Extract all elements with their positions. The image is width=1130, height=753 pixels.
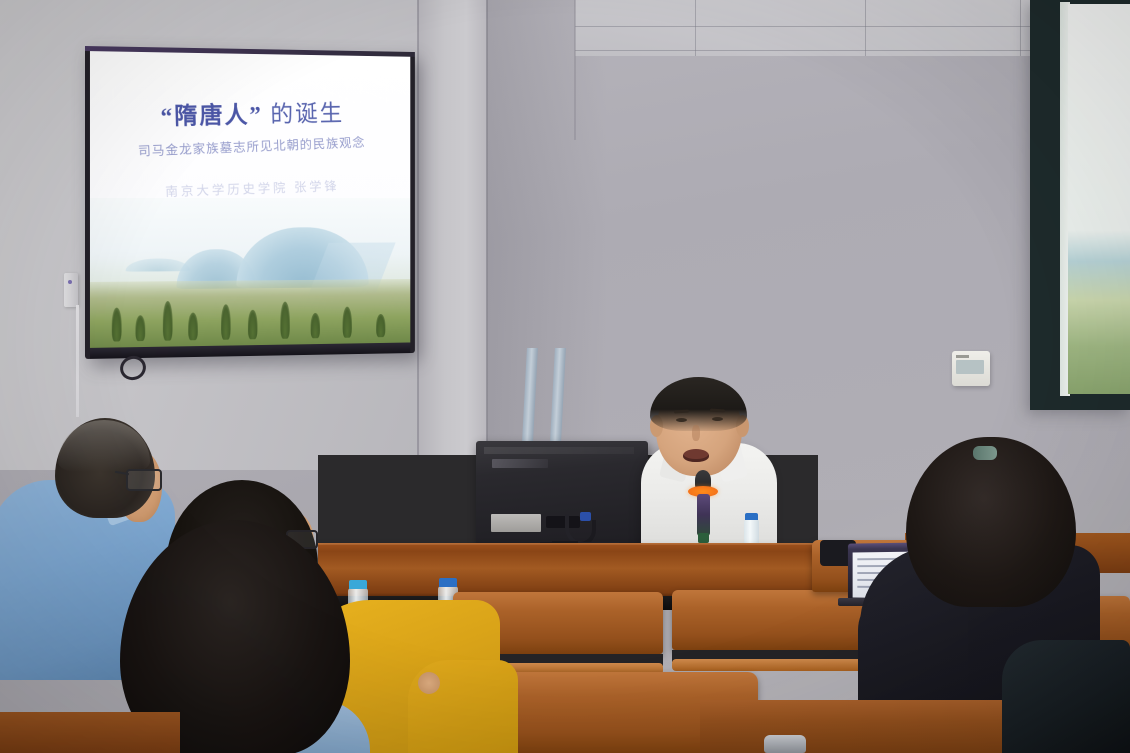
- chair-lower-rail: [672, 659, 882, 671]
- eyeglasses-icon: [126, 469, 162, 491]
- audience-woman-laptop-arm: [858, 590, 968, 710]
- audience-woman-laptop-hair: [906, 437, 1076, 607]
- speaker-eye-left: [676, 418, 687, 422]
- ac-panel-display: [956, 360, 984, 374]
- monitor-brand-logo: [492, 459, 548, 468]
- wall-corner-column: [416, 0, 488, 470]
- wall-corner-edge-right: [486, 0, 488, 495]
- ac-panel-strip: [956, 355, 969, 358]
- water-bottle-cap: [349, 580, 367, 589]
- monitor-gloss-highlight: [484, 447, 634, 454]
- water-bottle-cap: [439, 578, 457, 587]
- slide-title-rest: 的诞生: [262, 101, 344, 128]
- sensor-indicator-led: [68, 280, 72, 284]
- speaker-nose: [692, 425, 700, 441]
- audience-table-left: [0, 712, 180, 753]
- speaker-eye-right: [712, 417, 723, 421]
- hair-clip: [973, 446, 997, 460]
- wall-corner-edge-far: [574, 0, 576, 140]
- jacket-over-chair: [1002, 640, 1130, 753]
- wall-sensor-box[interactable]: [64, 273, 78, 307]
- wall-cable: [76, 305, 79, 417]
- microphone-gooseneck: [697, 494, 710, 536]
- wall-shadow-gradient: [487, 0, 607, 470]
- window-view: [1068, 4, 1130, 394]
- wall-corner-edge-left: [417, 0, 419, 470]
- speaker-mouth: [683, 449, 709, 462]
- slide-photograph: 古代墓塚封土堆景观: [90, 198, 410, 348]
- slide-title: “隋唐人” 的诞生: [90, 93, 410, 133]
- vga-connector: [580, 512, 591, 521]
- water-bottle-cap: [745, 513, 758, 520]
- audience-woman-yellow-hand: [418, 672, 440, 694]
- lecture-hall-photograph: air-conditioner-wall-control “隋唐人” 的诞生 司…: [0, 0, 1130, 753]
- presentation-display[interactable]: “隋唐人” 的诞生 司马金龙家族墓志所见北朝的民族观念 南京大学历史学院 张学锋: [85, 46, 415, 359]
- slide-subtitle: 司马金龙家族墓志所见北朝的民族观念: [98, 131, 404, 162]
- microphone-base: [698, 533, 709, 543]
- metal-cup-on-table[interactable]: [764, 735, 806, 753]
- monitor-spec-sticker: [491, 514, 541, 532]
- slide-title-quoted: “隋唐人”: [160, 103, 263, 130]
- slide-canvas: “隋唐人” 的诞生 司马金龙家族墓志所见北朝的民族观念 南京大学历史学院 张学锋: [90, 51, 410, 348]
